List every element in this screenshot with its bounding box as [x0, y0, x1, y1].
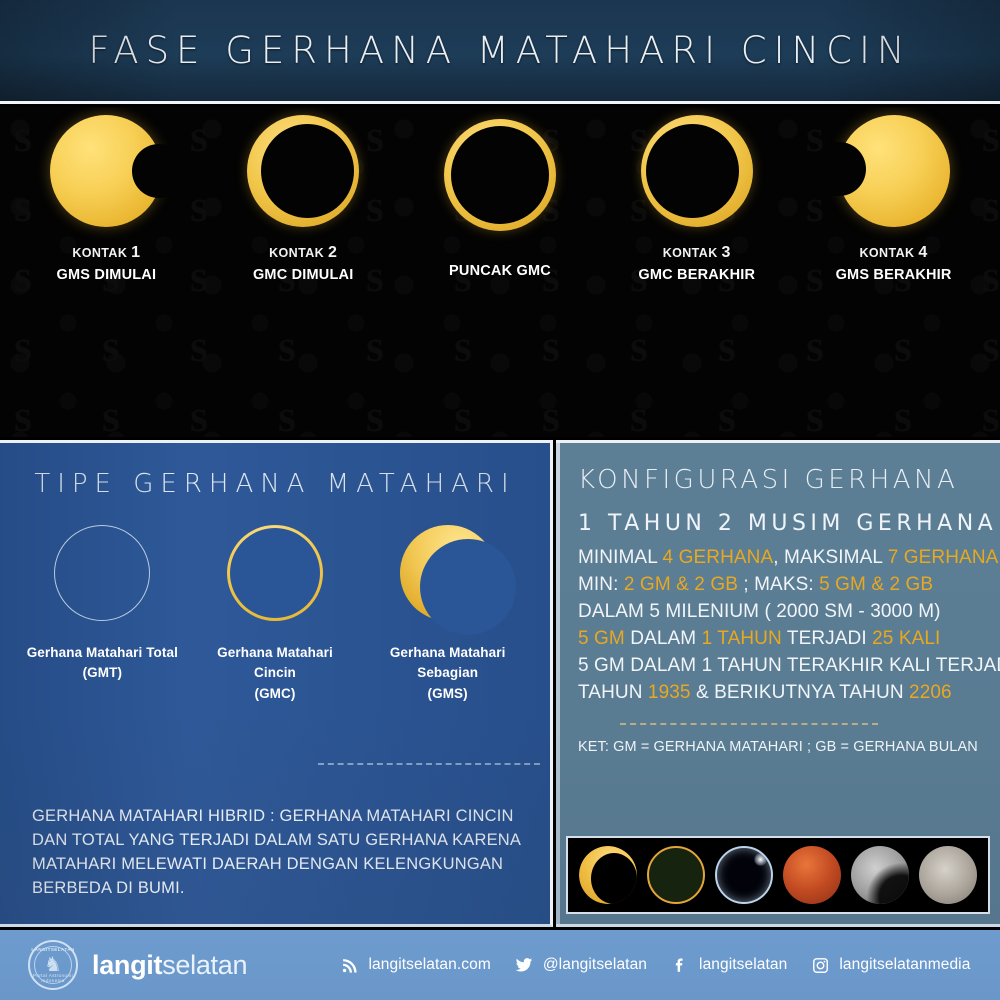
config-text: DALAM 5 MILENIUM ( 2000 SM - 3000 M) — [578, 601, 941, 622]
phase-item-4: KONTAK 3 GMC BERAKHIR — [602, 107, 792, 283]
eclipse-type-gms: Gerhana Matahari Sebagian (GMS) — [368, 525, 528, 704]
eclipse-type-name-gmc: Gerhana Matahari Cincin — [195, 643, 355, 684]
config-highlight: 7 GERHANA — [888, 547, 999, 568]
config-text: & BERIKUTNYA TAHUN — [691, 682, 909, 703]
phase-caption-1: KONTAK 1 GMS DIMULAI — [57, 241, 157, 283]
config-text: 5 GM DALAM 1 TAHUN TERAKHIR KALI TERJADI — [578, 655, 1000, 676]
config-text: MIN: — [578, 574, 624, 595]
eclipse-type-abbr-gmc: (GMC) — [195, 684, 355, 704]
left-panel-title: TIPE GERHANA MATAHARI — [0, 469, 550, 499]
eclipse-photo-strip — [566, 836, 990, 914]
annular-ring-thick-left-icon — [247, 115, 359, 227]
seal-horse-figure: ♞ — [44, 955, 62, 975]
phase-item-1: KONTAK 1 GMS DIMULAI — [11, 107, 201, 283]
phase-desc-1: GMS DIMULAI — [57, 267, 157, 283]
sun-bitten-left-icon — [838, 115, 950, 227]
config-highlight: 2206 — [909, 682, 952, 703]
social-label-facebook: langitselatan — [699, 956, 787, 974]
social-link-twitter[interactable]: @langitselatan — [514, 955, 647, 975]
phase-kontak-num-2: 2 — [328, 244, 337, 261]
phase-kontak-label-5: KONTAK — [860, 246, 915, 260]
config-highlight: 5 GM — [578, 628, 625, 649]
config-text: ; MAKS: — [738, 574, 819, 595]
brand-wordmark: langitselatan — [92, 950, 247, 981]
hybrid-eclipse-note: GERHANA MATAHARI HIBRID : GERHANA MATAHA… — [32, 805, 524, 901]
phase-caption-4: KONTAK 3 GMC BERAKHIR — [638, 241, 755, 283]
config-line: MIN: 2 GM & 2 GB ; MAKS: 5 GM & 2 GB — [578, 572, 1000, 599]
config-line: DALAM 5 MILENIUM ( 2000 SM - 3000 M) — [578, 599, 1000, 626]
solar-crescent-photo — [579, 846, 637, 904]
eclipse-type-caption-gmc: Gerhana Matahari Cincin (GMC) — [195, 643, 355, 704]
phase-kontak-label-1: KONTAK — [72, 246, 127, 260]
config-text: MINIMAL — [578, 547, 663, 568]
social-links: langitselatan.com @langitselatan langits… — [328, 955, 1000, 975]
eclipse-type-name-gmt: Gerhana Matahari Total — [27, 643, 178, 663]
eclipse-type-caption-gmt: Gerhana Matahari Total (GMT) — [27, 643, 178, 684]
social-label-instagram: langitselatanmedia — [839, 956, 970, 974]
phase-item-3: PUNCAK GMC — [405, 107, 595, 279]
config-text: DALAM — [625, 628, 702, 649]
infographic-root: FASE GERHANA MATAHARI CINCIN sssssssssss… — [0, 0, 1000, 1000]
config-text: , MAKSIMAL — [773, 547, 887, 568]
right-panel-divider — [620, 723, 878, 725]
config-line: MINIMAL 4 GERHANA, MAKSIMAL 7 GERHANA — [578, 545, 1000, 572]
eclipse-types-row: Gerhana Matahari Total (GMT) Gerhana Mat… — [0, 525, 550, 704]
config-text: TAHUN — [578, 682, 648, 703]
phase-caption-2: KONTAK 2 GMC DIMULAI — [253, 241, 353, 283]
config-highlight: 1 TAHUN — [702, 628, 782, 649]
social-link-instagram[interactable]: langitselatanmedia — [810, 955, 970, 975]
config-headline: 1 TAHUN 2 MUSIM GERHANA — [578, 511, 1000, 536]
social-label-website: langitselatan.com — [369, 956, 491, 974]
annular-ring-thick-right-icon — [641, 115, 753, 227]
total-eclipse-icon — [54, 525, 150, 621]
partial-eclipse-crescent-icon — [400, 525, 496, 621]
partial-lunar-eclipse-photo — [851, 846, 909, 904]
legend-note: KET: GM = GERHANA MATAHARI ; GB = GERHAN… — [578, 739, 1000, 755]
eclipse-phase-strip: ssssssssssssssssssssssssssssssssssssssss… — [0, 107, 1000, 437]
seal-top-text: LANGITSELATAN — [30, 947, 76, 952]
social-label-twitter: @langitselatan — [543, 956, 647, 974]
phase-kontak-num-4: 3 — [722, 244, 731, 261]
config-text: TERJADI — [782, 628, 872, 649]
config-lines: 1 TAHUN 2 MUSIM GERHANA MINIMAL 4 GERHAN… — [578, 511, 1000, 707]
annular-ring-even-icon — [444, 119, 556, 231]
phase-kontak-label-4: KONTAK — [663, 246, 718, 260]
phase-caption-5: KONTAK 4 GMS BERAKHIR — [836, 241, 952, 283]
page-title: FASE GERHANA MATAHARI CINCIN — [88, 29, 911, 72]
phase-caption-3: PUNCAK GMC — [449, 261, 551, 279]
eclipse-types-panel: TIPE GERHANA MATAHARI Gerhana Matahari T… — [0, 440, 553, 927]
phase-kontak-num-1: 1 — [131, 244, 140, 261]
total-solar-eclipse-photo — [715, 846, 773, 904]
config-line: TAHUN 1935 & BERIKUTNYA TAHUN 2206 — [578, 680, 1000, 707]
config-highlight: 4 GERHANA — [663, 547, 774, 568]
phase-item-2: KONTAK 2 GMC DIMULAI — [208, 107, 398, 283]
phase-kontak-label-2: KONTAK — [269, 246, 324, 260]
eclipse-type-gmt: Gerhana Matahari Total (GMT) — [22, 525, 182, 684]
eclipse-configuration-panel: KONFIGURASI GERHANA 1 TAHUN 2 MUSIM GERH… — [556, 440, 1000, 927]
config-highlight: 25 KALI — [872, 628, 940, 649]
social-link-facebook[interactable]: langitselatan — [670, 955, 787, 975]
eclipse-type-abbr-gms: (GMS) — [368, 684, 528, 704]
twitter-icon — [514, 955, 534, 975]
full-moon-photo — [919, 846, 977, 904]
annular-eclipse-photo — [647, 846, 705, 904]
brand-light-text: selatan — [162, 950, 247, 980]
config-highlight: 5 GM & 2 GB — [819, 574, 933, 595]
phase-kontak-num-5: 4 — [918, 244, 927, 261]
seal-bottom-text: Portal Astronomi Indonesia — [30, 973, 76, 983]
config-highlight: 1935 — [648, 682, 691, 703]
eclipse-type-gmc: Gerhana Matahari Cincin (GMC) — [195, 525, 355, 704]
phase-desc-2: GMC DIMULAI — [253, 267, 353, 283]
config-highlight: 2 GM & 2 GB — [624, 574, 738, 595]
phase-desc-3: PUNCAK GMC — [449, 263, 551, 279]
config-line: 5 GM DALAM 1 TAHUN TERAKHIR KALI TERJADI — [578, 653, 1000, 680]
config-line: 5 GM DALAM 1 TAHUN TERJADI 25 KALI — [578, 626, 1000, 653]
right-panel-title: KONFIGURASI GERHANA — [578, 465, 1000, 495]
facebook-icon — [670, 955, 690, 975]
eclipse-type-caption-gms: Gerhana Matahari Sebagian (GMS) — [368, 643, 528, 704]
phase-item-5: KONTAK 4 GMS BERAKHIR — [799, 107, 989, 283]
phase-desc-4: GMC BERAKHIR — [638, 267, 755, 283]
brand-bold-text: langit — [92, 950, 162, 980]
eclipse-type-name-gms: Gerhana Matahari Sebagian — [368, 643, 528, 684]
header-banner: FASE GERHANA MATAHARI CINCIN — [0, 0, 1000, 104]
sun-bitten-right-icon — [50, 115, 162, 227]
langitselatan-seal-icon: LANGITSELATAN ♞ Portal Astronomi Indones… — [28, 940, 78, 990]
eclipse-type-abbr-gmt: (GMT) — [27, 663, 178, 683]
total-lunar-eclipse-photo — [783, 846, 841, 904]
phase-desc-5: GMS BERAKHIR — [836, 267, 952, 283]
left-panel-divider — [318, 763, 540, 765]
footer-bar: LANGITSELATAN ♞ Portal Astronomi Indones… — [0, 930, 1000, 1000]
phase-row: KONTAK 1 GMS DIMULAI KONTAK 2 GMC DIMULA… — [0, 107, 1000, 437]
social-link-website[interactable]: langitselatan.com — [340, 955, 491, 975]
annular-eclipse-icon — [227, 525, 323, 621]
rss-icon — [340, 955, 360, 975]
brand-block[interactable]: LANGITSELATAN ♞ Portal Astronomi Indones… — [28, 940, 328, 990]
instagram-icon — [810, 955, 830, 975]
